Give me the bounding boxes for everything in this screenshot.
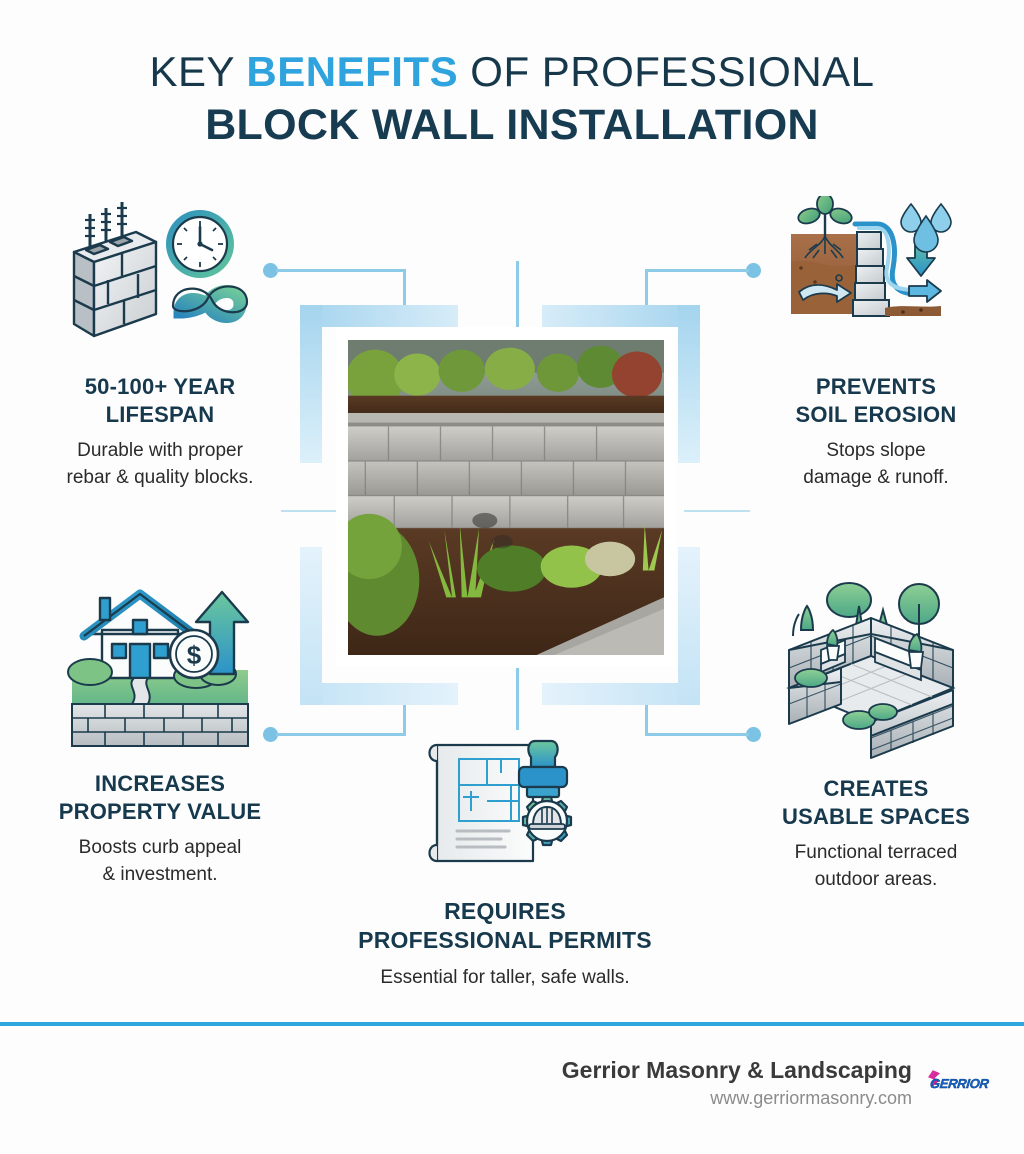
- footer-text-block: Gerrior Masonry & Landscaping www.gerrio…: [562, 1056, 912, 1110]
- benefit-erosion-description: Stops slope damage & runoff.: [730, 438, 1022, 490]
- benefit-lifespan-description: Durable with proper rebar & quality bloc…: [14, 438, 306, 490]
- title-prefix: KEY: [149, 48, 246, 95]
- photo-white-mat: [336, 327, 676, 667]
- benefit-permits-icon-wrap: [312, 735, 698, 885]
- svg-text:$: $: [187, 640, 202, 670]
- benefit-lifespan: 50-100+ YEAR LIFESPAN Durable with prope…: [14, 196, 306, 491]
- benefit-permits-heading: REQUIRES PROFESSIONAL PERMITS: [312, 897, 698, 956]
- company-name: Gerrior Masonry & Landscaping: [562, 1056, 912, 1085]
- benefit-soil-erosion: PREVENTS SOIL EROSION Stops slope damage…: [730, 196, 1022, 491]
- gerrior-logo: GERRIOR: [930, 1068, 1002, 1098]
- title-suffix: OF PROFESSIONAL: [458, 48, 874, 95]
- infographic-page: KEY BENEFITS OF PROFESSIONAL BLOCK WALL …: [0, 0, 1024, 1154]
- benefit-property-value: $: [14, 578, 306, 888]
- page-title-line-2: BLOCK WALL INSTALLATION: [0, 99, 1024, 153]
- benefit-property-description: Boosts curb appeal & investment.: [14, 835, 306, 887]
- benefit-spaces-heading: CREATES USABLE SPACES: [730, 775, 1022, 831]
- center-photo-stage: [300, 305, 700, 705]
- benefit-property-heading: INCREASES PROPERTY VALUE: [14, 770, 306, 826]
- benefit-erosion-heading: PREVENTS SOIL EROSION: [730, 373, 1022, 429]
- benefit-lifespan-icon-wrap: [14, 196, 306, 361]
- footer: Gerrior Masonry & Landscaping www.gerrio…: [562, 1056, 1002, 1110]
- benefit-usable-spaces: CREATES USABLE SPACES Functional terrace…: [730, 578, 1022, 893]
- house-value-arrow-dollar-icon: $: [60, 578, 260, 758]
- benefit-spaces-icon-wrap: [730, 578, 1022, 763]
- company-website[interactable]: www.gerriormasonry.com: [562, 1087, 912, 1110]
- title-highlight: BENEFITS: [246, 48, 458, 95]
- page-title-line-1: KEY BENEFITS OF PROFESSIONAL: [0, 46, 1024, 97]
- isometric-patio-terrace-icon: [771, 578, 981, 763]
- benefit-permits: REQUIRES PROFESSIONAL PERMITS Essential …: [312, 735, 698, 991]
- benefit-property-icon-wrap: $: [14, 578, 306, 758]
- benefit-lifespan-heading: 50-100+ YEAR LIFESPAN: [14, 373, 306, 429]
- block-wall-rebar-clock-infinity-icon: [60, 196, 260, 361]
- benefit-erosion-icon-wrap: [730, 196, 1022, 361]
- page-header: KEY BENEFITS OF PROFESSIONAL BLOCK WALL …: [0, 46, 1024, 153]
- soil-erosion-retaining-wall-icon: [781, 196, 971, 361]
- footer-divider: [0, 1022, 1024, 1026]
- blueprint-stamp-gear-hardhat-icon: [415, 735, 595, 885]
- benefit-permits-description: Essential for taller, safe walls.: [312, 965, 698, 991]
- logo-wordmark: GERRIOR: [929, 1076, 989, 1091]
- retaining-wall-photo: [348, 340, 664, 655]
- benefit-spaces-description: Functional terraced outdoor areas.: [730, 840, 1022, 892]
